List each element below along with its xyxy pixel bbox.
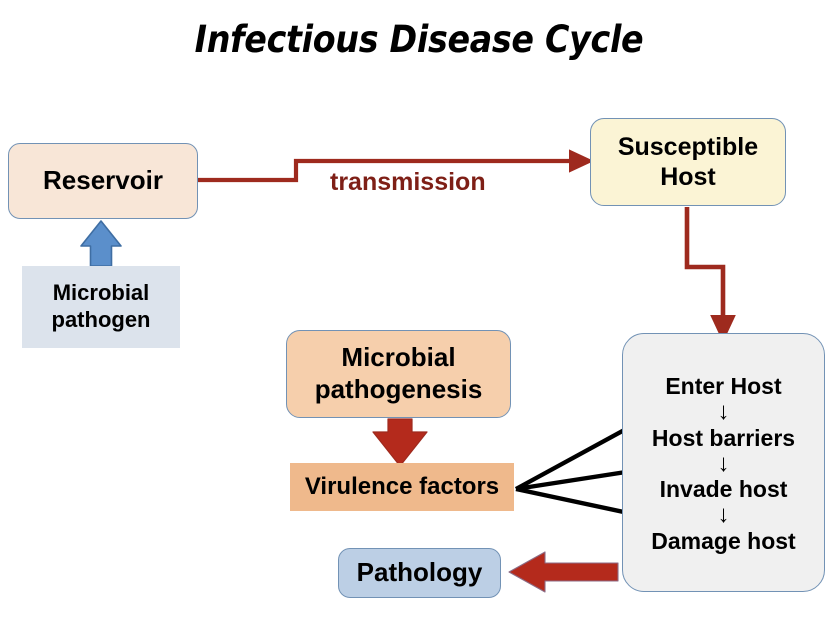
node-microbial-pathogenesis-label-line1: Microbial [341,342,455,374]
down-arrow-icon-3: ↓ [718,501,730,529]
node-susceptible-host-label-line1: Susceptible [618,132,758,163]
node-susceptible-host[interactable]: Susceptible Host [590,118,786,206]
step-invade-host: Invade host [660,477,788,501]
edge-susceptible-host-to-enter-host [687,207,723,325]
node-microbial-pathogen[interactable]: Microbial pathogen [22,266,180,348]
node-infection-steps[interactable]: Enter Host ↓ Host barriers ↓ Invade host… [622,333,825,592]
down-arrow-icon-1: ↓ [718,398,730,426]
node-virulence-factors[interactable]: Virulence factors [290,463,514,511]
down-arrow-icon-2: ↓ [718,450,730,478]
page-title: Infectious Disease Cycle [0,18,838,61]
diagram-canvas: Infectious Disease Cycle [0,0,838,622]
node-reservoir-label: Reservoir [43,165,163,197]
node-pathology-label: Pathology [357,557,483,589]
node-microbial-pathogenesis-label-line2: pathogenesis [315,374,483,406]
node-microbial-pathogenesis[interactable]: Microbial pathogenesis [286,330,511,418]
step-damage-host: Damage host [651,529,795,553]
step-host-barriers: Host barriers [652,426,795,450]
arrow-damage-to-pathology [509,552,618,592]
arrow-pathogenesis-to-virulence [373,419,427,466]
node-susceptible-host-label-line2: Host [660,162,716,193]
node-reservoir[interactable]: Reservoir [8,143,198,219]
arrow-pathogen-to-reservoir [81,221,121,266]
node-microbial-pathogen-label-line2: pathogen [52,307,151,334]
node-microbial-pathogen-label-line1: Microbial [53,280,150,307]
node-virulence-factors-label: Virulence factors [305,472,499,501]
step-enter-host: Enter Host [665,374,781,398]
node-pathology[interactable]: Pathology [338,548,501,598]
edge-label-transmission: transmission [330,168,486,197]
